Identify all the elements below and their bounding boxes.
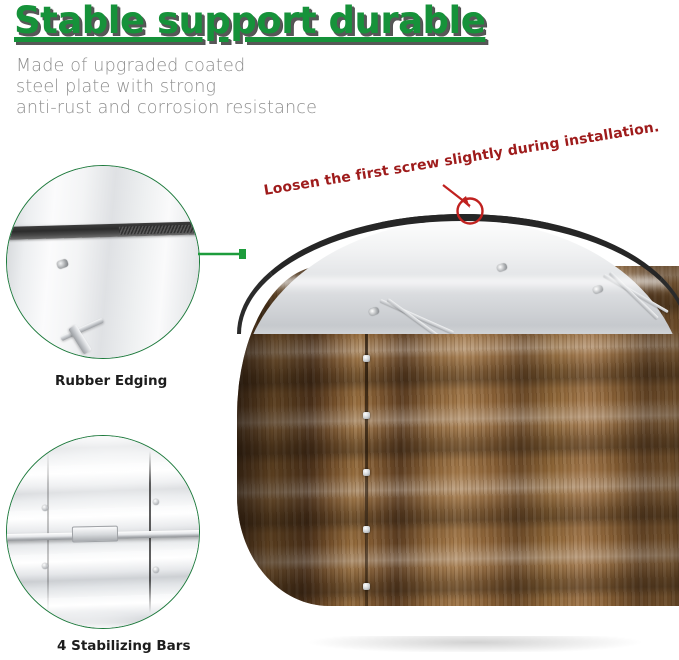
callout-rubber-connector bbox=[198, 246, 246, 262]
zoom-bar-bracket bbox=[72, 526, 118, 543]
bed-screw bbox=[363, 355, 370, 362]
zoom-panel-seam bbox=[47, 451, 49, 612]
bed-screw bbox=[363, 412, 370, 419]
stabilizing-bar bbox=[603, 274, 669, 314]
zoom-rivet bbox=[42, 505, 48, 511]
bed-interior-surface bbox=[241, 220, 679, 334]
heading-block: Stable support durable bbox=[14, 2, 485, 41]
callout-rubber-edging bbox=[6, 165, 200, 359]
bed-screw bbox=[363, 469, 370, 476]
connector-endpoint bbox=[239, 249, 246, 259]
bed-top-rim bbox=[237, 214, 679, 334]
bed-screw bbox=[363, 583, 370, 590]
callout-label-rubber-edging: Rubber Edging bbox=[55, 373, 167, 389]
bed-ground-shadow bbox=[275, 636, 675, 652]
callout-stabilizing-bars bbox=[6, 435, 200, 629]
callout-rubber-edging-image bbox=[7, 166, 199, 358]
page-title: Stable support durable bbox=[14, 2, 485, 41]
zoom-rivet bbox=[42, 563, 48, 569]
interior-screw bbox=[368, 307, 380, 317]
callout-stabilizing-bars-image bbox=[7, 436, 199, 628]
heading-subtitle: Made of upgraded coated steel plate with… bbox=[16, 56, 317, 119]
interior-screw bbox=[592, 285, 604, 295]
zoom-rivet bbox=[153, 567, 159, 573]
stabilizing-bar bbox=[609, 271, 659, 319]
infographic-canvas: Stable support durable Made of upgraded … bbox=[0, 0, 679, 660]
bed-screw bbox=[363, 526, 370, 533]
product-image-garden-bed bbox=[215, 178, 679, 650]
callout-label-stabilizing-bars: 4 Stabilizing Bars bbox=[57, 638, 190, 654]
zoom-panel-surface bbox=[6, 166, 200, 358]
interior-screw bbox=[496, 263, 508, 273]
